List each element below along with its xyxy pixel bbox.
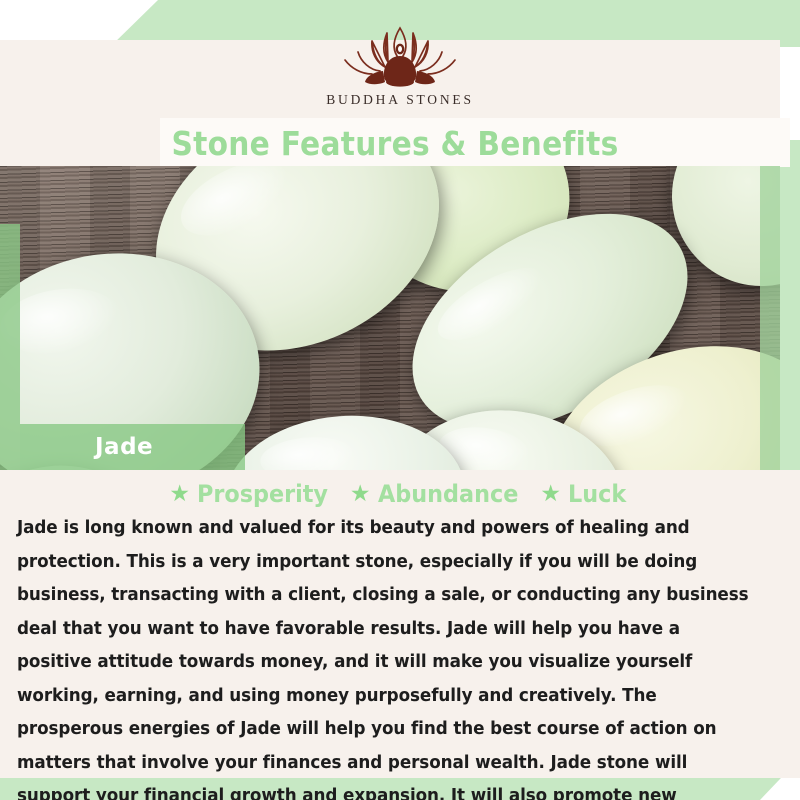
description-text: Jade is long known and valued for its be… — [17, 512, 760, 800]
star-icon: ★ — [350, 483, 371, 506]
poster-root: BUDDHA STONES Stone Features & Benefits … — [0, 0, 800, 800]
benefit-item-abundance: ★ Abundance — [350, 480, 529, 508]
brand-name: BUDDHA STONES — [326, 92, 474, 108]
photo-left-green-strip — [0, 224, 20, 470]
brand-logo: BUDDHA STONES — [0, 22, 800, 117]
benefit-item-luck: ★ Luck — [540, 480, 630, 508]
star-icon: ★ — [169, 483, 190, 506]
benefit-label: Prosperity — [197, 480, 328, 508]
benefits-row: ★ Prosperity ★ Abundance ★ Luck — [0, 478, 800, 510]
benefit-label: Abundance — [378, 480, 518, 508]
star-icon: ★ — [540, 483, 561, 506]
photo-right-green-strip — [760, 166, 780, 470]
benefit-item-prosperity: ★ Prosperity — [169, 480, 337, 508]
lotus-meditation-icon — [325, 22, 475, 90]
stone-name-banner: Jade — [20, 424, 245, 470]
benefit-label: Luck — [568, 480, 626, 508]
page-title: Stone Features & Benefits — [40, 120, 751, 166]
stone-name-label: Jade — [95, 434, 153, 460]
